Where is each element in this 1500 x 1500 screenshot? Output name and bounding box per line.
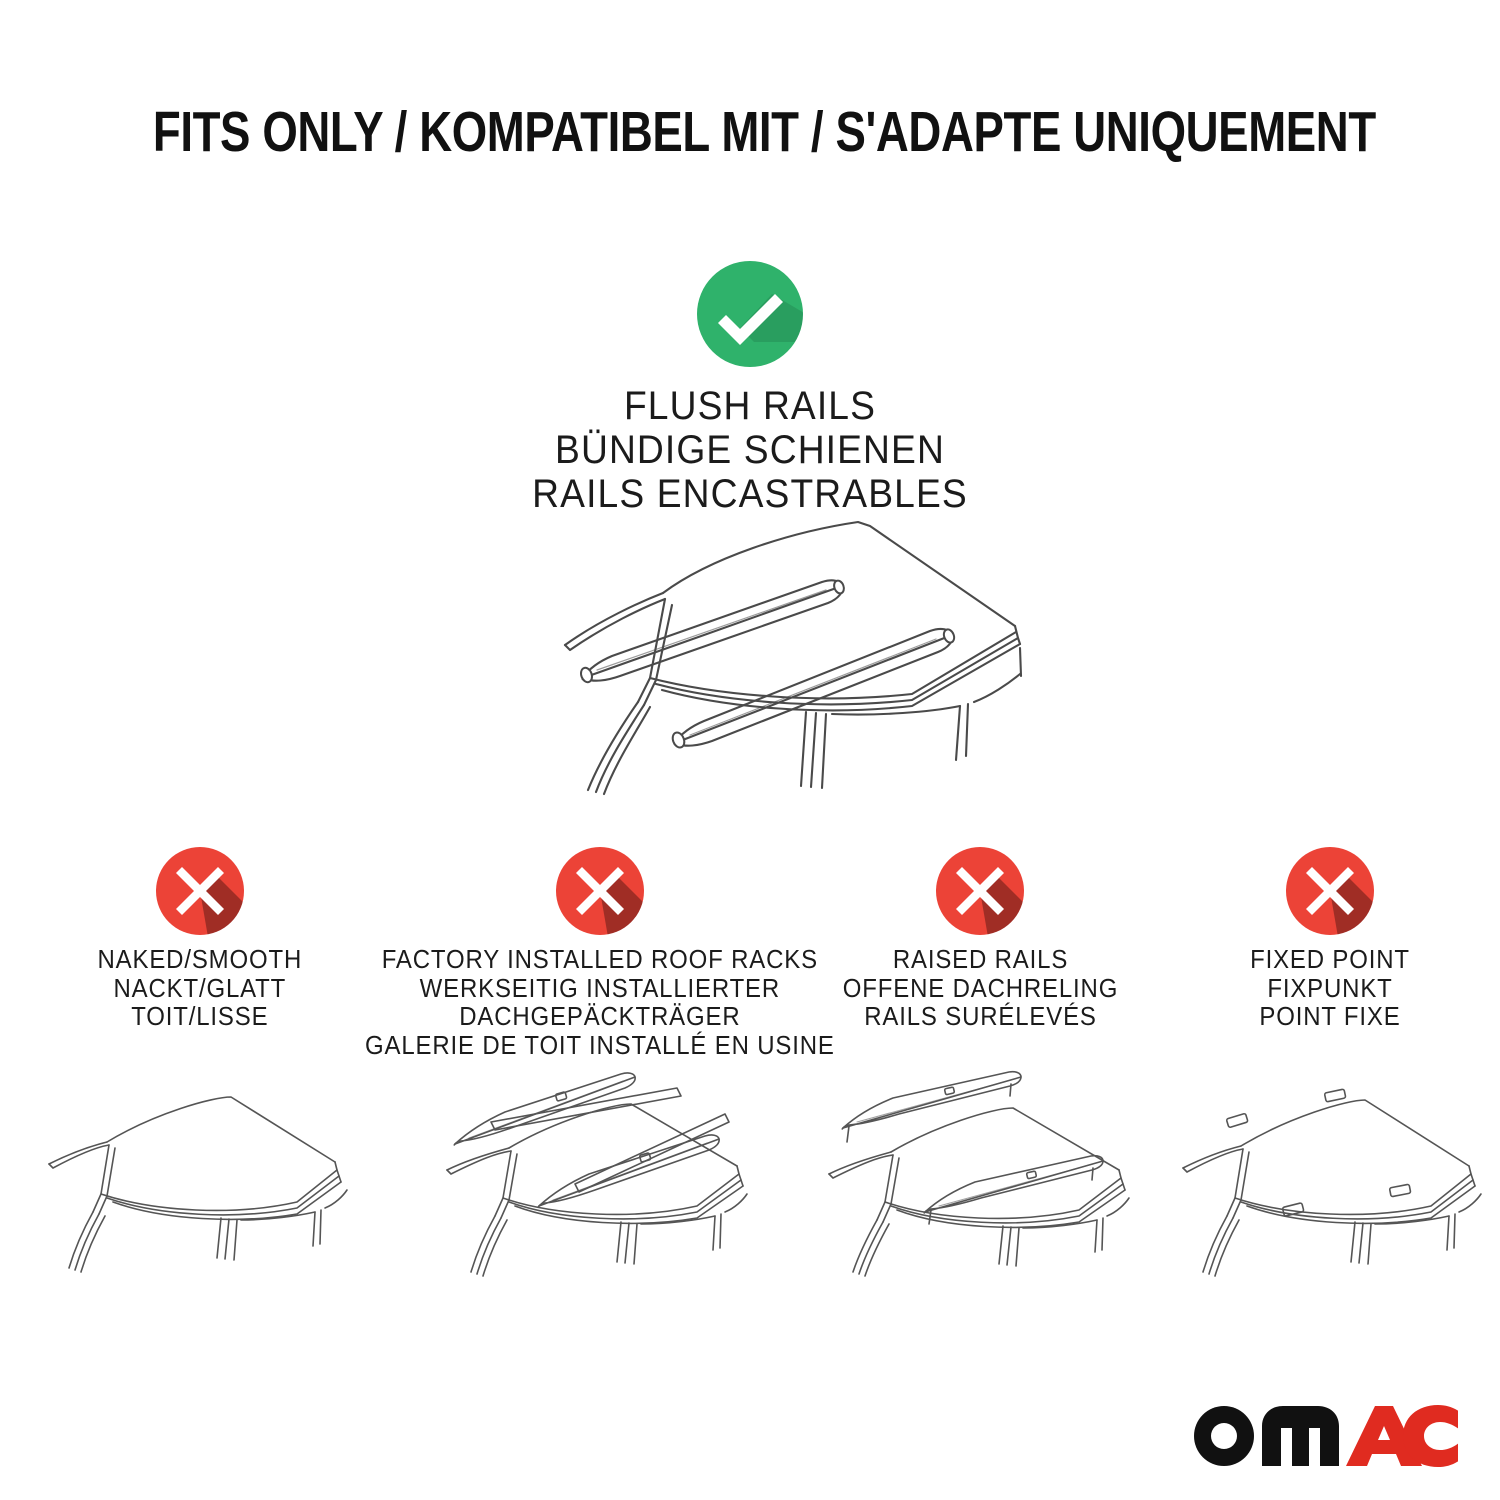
rejected-item-factory-racks: FACTORY INSTALLED ROOF RACKS WERKSEITIG … — [400, 845, 800, 1283]
rejected-label-de-2: DACHGEPÄCKTRÄGER — [365, 1003, 835, 1032]
red-x-icon — [1284, 845, 1376, 937]
rejected-label-en: NAKED/SMOOTH — [98, 946, 303, 975]
rejected-label-fr: GALERIE DE TOIT INSTALLÉ EN USINE — [365, 1032, 835, 1061]
car-roof-naked-illustration — [35, 1066, 365, 1281]
red-x-icon-svg — [934, 845, 1026, 937]
omac-logo-svg — [1186, 1392, 1458, 1472]
rejected-section: NAKED/SMOOTH NACKT/GLATT TOIT/LISSE — [0, 845, 1500, 1283]
rejected-label-group: FIXED POINT FIXPUNKT POINT FIXE — [1250, 946, 1410, 1032]
car-roof-flush-rails-illustration — [0, 498, 1500, 803]
green-check-icon — [694, 258, 806, 370]
rejected-label-de-1: WERKSEITIG INSTALLIERTER — [365, 975, 835, 1004]
rejected-label-de: FIXPUNKT — [1250, 975, 1410, 1004]
red-x-icon-svg — [154, 845, 246, 937]
approved-label-group: FLUSH RAILS BÜNDIGE SCHIENEN RAILS ENCAS… — [53, 384, 1448, 516]
page-title-text: FITS ONLY / KOMPATIBEL MIT / S'ADAPTE UN… — [153, 104, 1376, 161]
approved-label-de: BÜNDIGE SCHIENEN — [53, 428, 1448, 472]
green-check-icon-svg — [694, 258, 806, 370]
rejected-item-fixed-point: FIXED POINT FIXPUNKT POINT FIXE — [1160, 845, 1500, 1283]
logo-letter-o — [1194, 1406, 1254, 1466]
rejected-label-de: NACKT/GLATT — [98, 975, 303, 1004]
red-x-icon — [554, 845, 646, 937]
car-roof-raised-rails-svg — [805, 1066, 1155, 1278]
rejected-label-group: NAKED/SMOOTH NACKT/GLATT TOIT/LISSE — [98, 946, 303, 1032]
rejected-label-group: RAISED RAILS OFFENE DACHRELING RAILS SUR… — [842, 946, 1117, 1032]
approved-section: FLUSH RAILS BÜNDIGE SCHIENEN RAILS ENCAS… — [0, 258, 1500, 516]
car-roof-fixed-point-svg — [1165, 1066, 1495, 1278]
approved-label-en: FLUSH RAILS — [53, 384, 1448, 428]
car-roof-flush-rails-svg — [460, 498, 1040, 798]
rejected-item-naked: NAKED/SMOOTH NACKT/GLATT TOIT/LISSE — [0, 845, 400, 1281]
car-roof-factory-racks-illustration — [425, 1066, 775, 1283]
rejected-label-en: FACTORY INSTALLED ROOF RACKS — [365, 946, 835, 975]
rejected-label-de: OFFENE DACHRELING — [842, 975, 1117, 1004]
red-x-icon — [934, 845, 1026, 937]
red-x-icon — [154, 845, 246, 937]
car-roof-fixed-point-illustration — [1165, 1066, 1495, 1283]
car-roof-factory-racks-svg — [425, 1066, 775, 1278]
rejected-item-raised-rails: RAISED RAILS OFFENE DACHRELING RAILS SUR… — [800, 845, 1160, 1283]
rejected-label-fr: POINT FIXE — [1250, 1003, 1410, 1032]
rejected-label-fr: RAILS SURÉLEVÉS — [842, 1003, 1117, 1032]
brand-logo — [1186, 1392, 1458, 1472]
rejected-label-group: FACTORY INSTALLED ROOF RACKS WERKSEITIG … — [365, 946, 835, 1060]
rejected-label-fr: TOIT/LISSE — [98, 1003, 303, 1032]
red-x-icon-svg — [554, 845, 646, 937]
rejected-label-en: RAISED RAILS — [842, 946, 1117, 975]
car-roof-raised-rails-illustration — [805, 1066, 1155, 1283]
car-roof-naked-svg — [35, 1066, 365, 1276]
page-title: FITS ONLY / KOMPATIBEL MIT / S'ADAPTE UN… — [0, 104, 1500, 161]
rejected-label-en: FIXED POINT — [1250, 946, 1410, 975]
red-x-icon-svg — [1284, 845, 1376, 937]
logo-letter-m — [1262, 1406, 1339, 1466]
